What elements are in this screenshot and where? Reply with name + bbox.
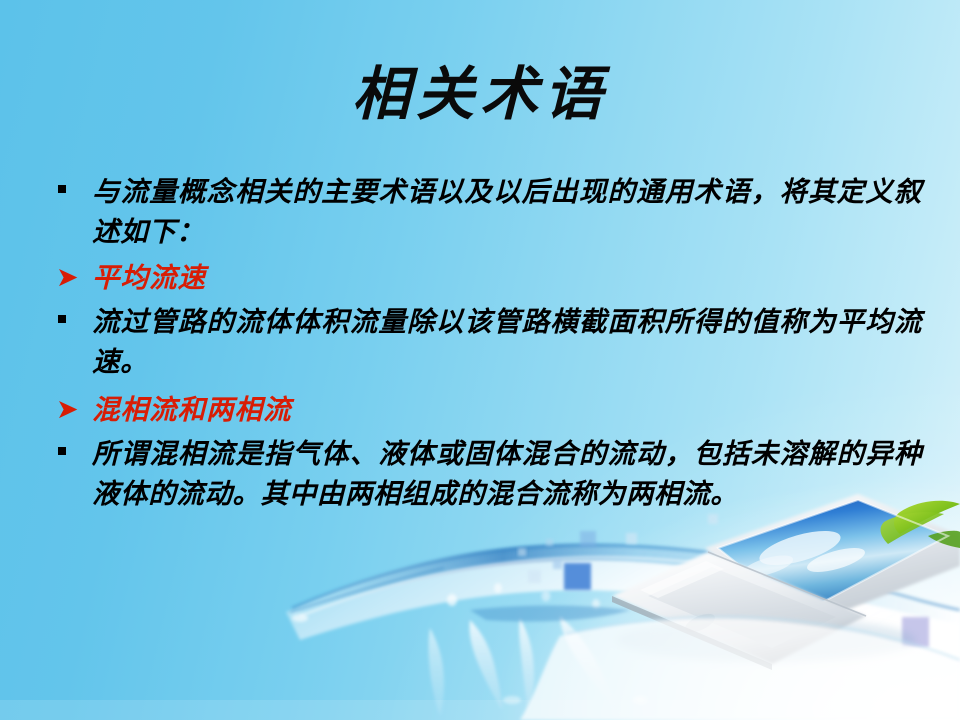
paragraph-text-definition-1: 流过管路的流体体积流量除以该管路横截面积所得的值称为平均流速。 bbox=[92, 302, 922, 382]
arrow-bullet-icon: ➤ bbox=[46, 258, 92, 298]
square-bullet-icon bbox=[46, 434, 92, 474]
laptop-illustration bbox=[612, 494, 960, 670]
bullet-paragraph-definition-1: 流过管路的流体体积流量除以该管路横截面积所得的值称为平均流速。 bbox=[46, 302, 922, 382]
content-body: 与流量概念相关的主要术语以及以后出现的通用术语，将其定义叙述如下： ➤ 平均流速… bbox=[46, 172, 922, 518]
blue-square-accents bbox=[518, 514, 929, 647]
wave-shadow bbox=[470, 606, 630, 622]
square-bullet-icon bbox=[46, 302, 92, 342]
term-heading-average-velocity: ➤ 平均流速 bbox=[46, 258, 922, 298]
term-heading-text-1: 平均流速 bbox=[92, 258, 922, 298]
slide: 相关术语 与流量概念相关的主要术语以及以后出现的通用术语，将其定义叙述如下： ➤… bbox=[0, 0, 960, 720]
wave-tail bbox=[290, 568, 444, 622]
page-title: 相关术语 bbox=[352, 63, 608, 127]
foreground-wave bbox=[520, 617, 960, 720]
term-heading-multiphase-flow: ➤ 混相流和两相流 bbox=[46, 390, 922, 430]
arrow-bullet-icon: ➤ bbox=[46, 390, 92, 430]
bullet-paragraph-definition-2: 所谓混相流是指气体、液体或固体混合的流动，包括未溶解的异种液体的流动。其中由两相… bbox=[46, 434, 922, 514]
paragraph-text-definition-2: 所谓混相流是指气体、液体或固体混合的流动，包括未溶解的异种液体的流动。其中由两相… bbox=[92, 434, 922, 514]
title-zone: 相关术语 bbox=[0, 24, 960, 166]
square-bullet-icon bbox=[46, 172, 92, 212]
water-splash bbox=[429, 583, 648, 716]
wave-crest bbox=[292, 545, 960, 616]
bullet-paragraph-intro: 与流量概念相关的主要术语以及以后出现的通用术语，将其定义叙述如下： bbox=[46, 172, 922, 252]
paragraph-text-intro: 与流量概念相关的主要术语以及以后出现的通用术语，将其定义叙述如下： bbox=[92, 172, 922, 252]
term-heading-text-2: 混相流和两相流 bbox=[92, 390, 922, 430]
water-wave bbox=[286, 544, 960, 660]
